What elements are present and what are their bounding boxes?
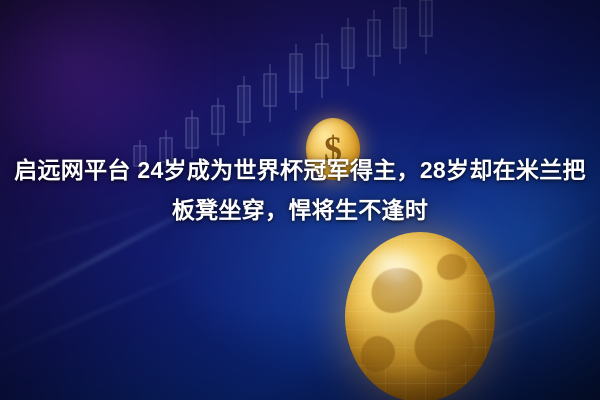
light-streak — [0, 262, 208, 370]
gold-globe-graphic — [345, 232, 495, 400]
globe-highlight — [363, 244, 423, 286]
article-cover-image: $ 启远网平台 24岁成为世界杯冠军得主，28岁却在米兰把板凳坐穿，悍将生不逢时 — [0, 0, 600, 400]
headline-text: 启远网平台 24岁成为世界杯冠军得主，28岁却在米兰把板凳坐穿，悍将生不逢时 — [0, 150, 600, 230]
